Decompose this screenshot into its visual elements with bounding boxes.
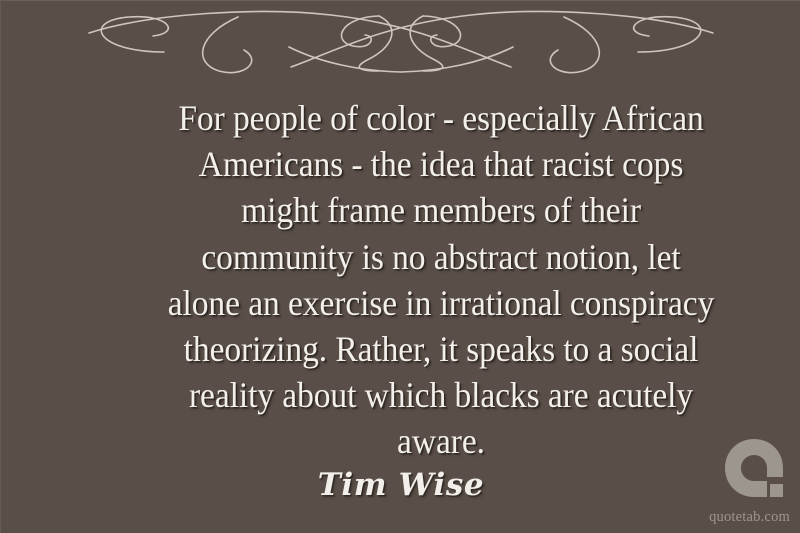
quote-line: Americans - the idea that racist cops: [101, 141, 781, 187]
quote-line: aware.: [101, 418, 781, 464]
quote-text: For people of color - especially African…: [81, 95, 800, 465]
quote-line: might frame members of their: [101, 187, 781, 233]
quote-line: community is no abstract notion, let: [101, 234, 781, 280]
quotetab-logo-icon[interactable]: [723, 437, 785, 499]
decorative-flourish-icon: [1, 5, 800, 77]
quote-line: reality about which blacks are acutely: [101, 372, 781, 418]
author-attribution: Tim Wise: [1, 467, 800, 503]
quote-line: alone an exercise in irrational conspira…: [101, 280, 781, 326]
quote-card: For people of color - especially African…: [0, 0, 800, 533]
quote-line: For people of color - especially African: [101, 95, 781, 141]
watermark[interactable]: quotetab.com: [698, 437, 794, 529]
quotetab-wordmark[interactable]: quotetab.com: [709, 509, 790, 526]
quote-line: theorizing. Rather, it speaks to a socia…: [101, 326, 781, 372]
author-name: Tim Wise: [318, 467, 484, 503]
